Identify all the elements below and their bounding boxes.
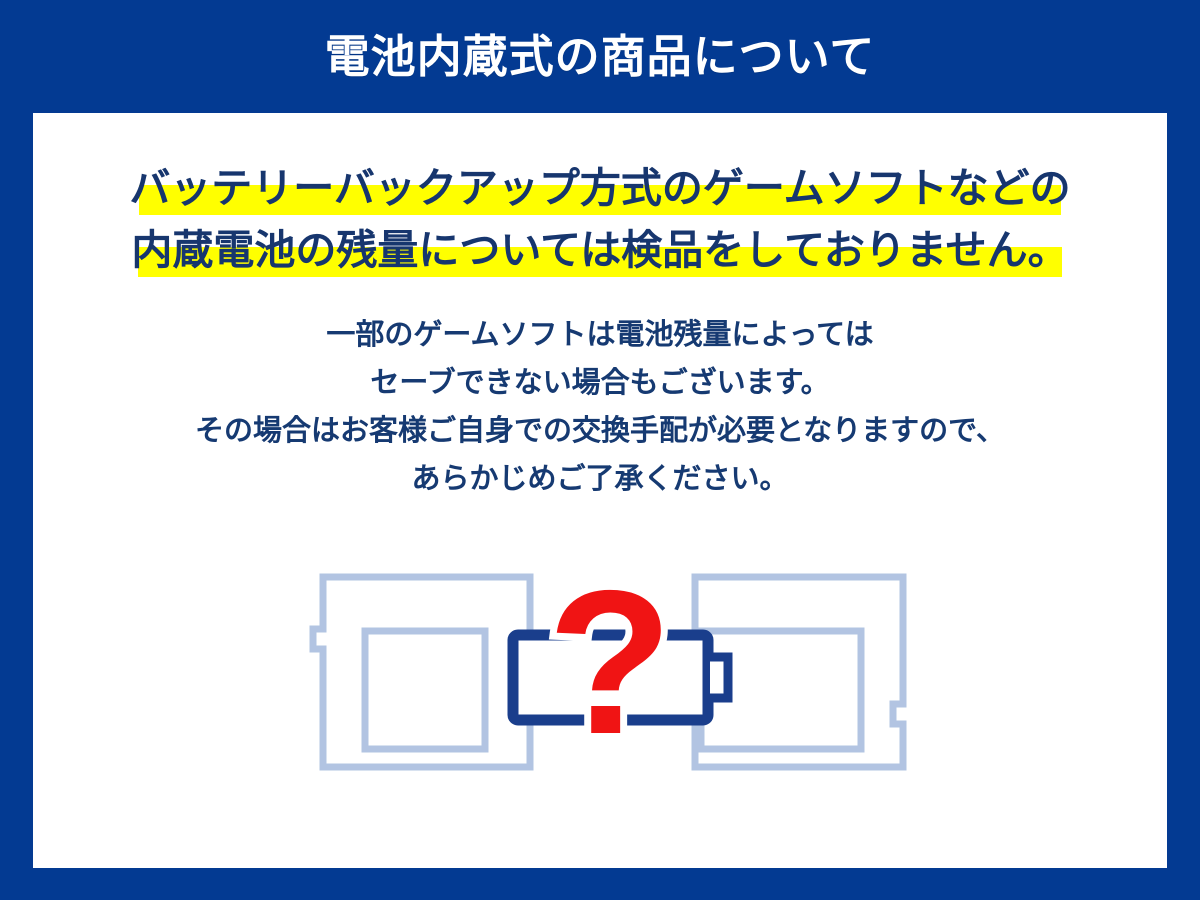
- headline-line-1-text: バッテリーバックアップ方式のゲームソフトなどの: [125, 157, 1074, 219]
- headline-line-1: バッテリーバックアップ方式のゲームソフトなどの: [33, 157, 1167, 219]
- question-mark-icon: ?: [547, 561, 672, 777]
- headline-line-2: 内蔵電池の残量については検品をしておりません。: [33, 219, 1167, 281]
- illustration-group: ?: [305, 561, 925, 791]
- body-line-3: その場合はお客様ご自身での交換手配が必要となりますので、: [33, 407, 1167, 455]
- body-paragraph: 一部のゲームソフトは電池残量によっては セーブできない場合もございます。 その場…: [33, 311, 1167, 503]
- headline-block: バッテリーバックアップ方式のゲームソフトなどの 内蔵電池の残量については検品をし…: [33, 157, 1167, 281]
- content-panel: バッテリーバックアップ方式のゲームソフトなどの 内蔵電池の残量については検品をし…: [33, 113, 1167, 868]
- body-line-4: あらかじめご了承ください。: [33, 455, 1167, 503]
- page-title: 電池内蔵式の商品について: [325, 34, 876, 79]
- headline-line-2-text: 内蔵電池の残量については検品をしておりません。: [127, 219, 1072, 281]
- question-mark-glyph: ?: [547, 561, 672, 777]
- game-cartridge-left-icon: [313, 577, 530, 767]
- header-bar: 電池内蔵式の商品について: [0, 0, 1200, 113]
- slide-root: 電池内蔵式の商品について バッテリーバックアップ方式のゲームソフトなどの 内蔵電…: [0, 0, 1200, 900]
- body-line-1: 一部のゲームソフトは電池残量によっては: [33, 311, 1167, 359]
- body-line-2: セーブできない場合もございます。: [33, 359, 1167, 407]
